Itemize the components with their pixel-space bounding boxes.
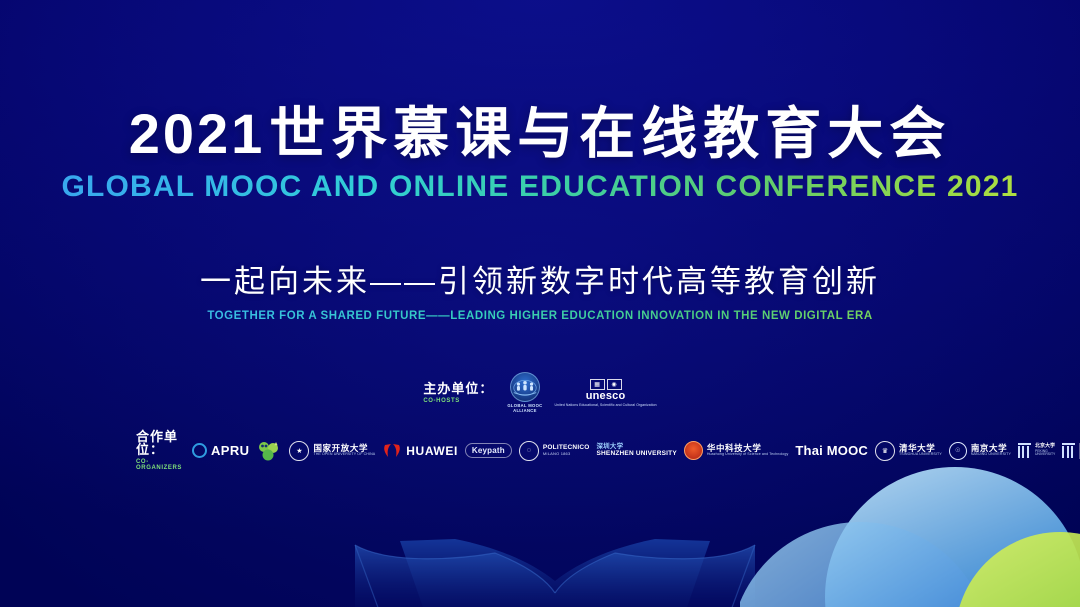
logo-shenzhen-university: 深圳大学 SHENZHEN UNIVERSITY: [596, 436, 676, 466]
coorganizers-label-cn: 合作单位：: [136, 430, 182, 456]
huazhong-wordmark: 华中科技大学 Huazhong University of Science an…: [707, 444, 789, 457]
nanjing-en: NANJING UNIVERSITY: [971, 453, 1011, 457]
thai-mooc-wordmark: Thai MOOC: [795, 443, 868, 458]
open-university-seal-icon: ★: [289, 441, 309, 461]
coorganizers-row: 合作单位： CO-ORGANIZERS APRU ★: [136, 430, 1054, 471]
open-university-wordmark: 国家开放大学 THE OPEN UNIVERSITY OF CHINA: [313, 444, 375, 457]
logo-thai-mooc: Thai MOOC: [795, 436, 868, 466]
coorganizers-label-en: CO-ORGANIZERS: [136, 459, 182, 471]
headline-block: 2021世界慕课与在线教育大会 GLOBAL MOOC AND ONLINE E…: [0, 104, 1080, 204]
tsinghua-seal-icon: ♛: [875, 441, 895, 461]
partner-a-gate-icon: [1018, 443, 1031, 458]
logo-open-university-china: ★ 国家开放大学 THE OPEN UNIVERSITY OF CHINA: [289, 436, 375, 466]
logo-tsinghua-university: ♛ 清华大学 TSINGHUA UNIVERSITY: [875, 436, 942, 466]
hosts-label: 主办单位： CO-HOSTS: [423, 382, 493, 404]
open-book-decoration: [330, 523, 780, 607]
apru-wordmark: APRU: [211, 443, 249, 458]
logo-keypath: Keypath: [465, 443, 512, 458]
page-title-cn: 2021世界慕课与在线教育大会: [0, 104, 1080, 164]
partner-a-wordmark: 北京大学 PEKING UNIVERSITY: [1035, 444, 1055, 456]
coorganizers-logo-strip: APRU ★ 国家开放大学 THE OPEN UNIVERSITY OF CHI…: [192, 433, 1080, 468]
politecnico-seal-icon: ◌: [519, 441, 539, 461]
logo-unesco: ▦ ◉ unesco United Nations Educational, S…: [554, 379, 656, 407]
coorganizers-label: 合作单位： CO-ORGANIZERS: [136, 430, 182, 471]
global-mooc-alliance-wordmark: GLOBAL MOOC ALLIANCE: [507, 403, 542, 413]
partner-b-gate-icon: [1062, 443, 1075, 458]
logo-politecnico-milano: ◌ POLITECNICO MILANO 1863: [519, 436, 590, 466]
logo-huazhong-university: 华中科技大学 Huazhong University of Science an…: [684, 436, 789, 466]
huawei-petal-icon: [382, 443, 402, 458]
shenzhen-wordmark: 深圳大学 SHENZHEN UNIVERSITY: [596, 444, 676, 458]
logo-nanjing-university: ☉ 南京大学 NANJING UNIVERSITY: [949, 436, 1011, 466]
unesco-wordmark: unesco: [586, 391, 626, 402]
open-university-en: THE OPEN UNIVERSITY OF CHINA: [313, 453, 375, 457]
logo-global-mooc-alliance: GLOBAL MOOC ALLIANCE: [507, 372, 542, 413]
huazhong-seal-icon: [684, 441, 703, 460]
green-leaf-icon: [256, 440, 282, 462]
nanjing-seal-icon: ☉: [949, 442, 967, 460]
conference-banner: 2021世界慕课与在线教育大会 GLOBAL MOOC AND ONLINE E…: [0, 0, 1080, 607]
title-year: 2021: [129, 102, 266, 165]
page-title-en: GLOBAL MOOC AND ONLINE EDUCATION CONFERE…: [0, 170, 1080, 204]
slogan-en: TOGETHER FOR A SHARED FUTURE——LEADING HI…: [0, 310, 1080, 322]
keypath-wordmark: Keypath: [472, 446, 505, 455]
logo-university-partner-b: 上海交通大学 SJTU: [1062, 433, 1080, 468]
politecnico-wordmark: POLITECNICO MILANO 1863: [543, 445, 590, 456]
unesco-temple-icon: ▦: [590, 379, 605, 390]
hosts-label-en: CO-HOSTS: [423, 398, 493, 404]
title-cn-text: 世界慕课与在线教育大会: [269, 102, 951, 165]
huazhong-en: Huazhong University of Science and Techn…: [707, 453, 789, 457]
logo-university-partner-a: 北京大学 PEKING UNIVERSITY: [1018, 443, 1055, 458]
unesco-subtitle: United Nations Educational, Scientific a…: [554, 403, 656, 407]
unesco-emblem: ▦ ◉: [590, 379, 622, 390]
huawei-wordmark: HUAWEI: [406, 444, 458, 458]
slogan-block: 一起向未来——引领新数字时代高等教育创新 TOGETHER FOR A SHAR…: [0, 256, 1080, 322]
politecnico-sub: MILANO 1863: [543, 452, 590, 456]
global-mooc-alliance-icon: [510, 372, 540, 402]
logo-green-leaf-org: [256, 436, 282, 466]
apru-ring-icon: [192, 443, 207, 458]
gma-line2: ALLIANCE: [507, 408, 542, 413]
logo-apru: APRU: [192, 436, 249, 466]
circle-decoration: [740, 447, 1080, 607]
shenzhen-en: SHENZHEN UNIVERSITY: [596, 451, 676, 458]
tsinghua-en: TSINGHUA UNIVERSITY: [899, 453, 942, 457]
logo-huawei: HUAWEI: [382, 436, 458, 466]
hosts-label-cn: 主办单位：: [423, 382, 493, 395]
nanjing-wordmark: 南京大学 NANJING UNIVERSITY: [971, 444, 1011, 457]
hosts-row: 主办单位： CO-HOSTS GLOB: [0, 372, 1080, 413]
hosts-logo-strip: GLOBAL MOOC ALLIANCE ▦ ◉ unesco United N…: [507, 372, 656, 413]
tsinghua-wordmark: 清华大学 TSINGHUA UNIVERSITY: [899, 444, 942, 457]
slogan-cn: 一起向未来——引领新数字时代高等教育创新: [0, 256, 1080, 301]
partner-a-en: PEKING UNIVERSITY: [1035, 450, 1055, 457]
unesco-globe-icon: ◉: [607, 379, 622, 390]
